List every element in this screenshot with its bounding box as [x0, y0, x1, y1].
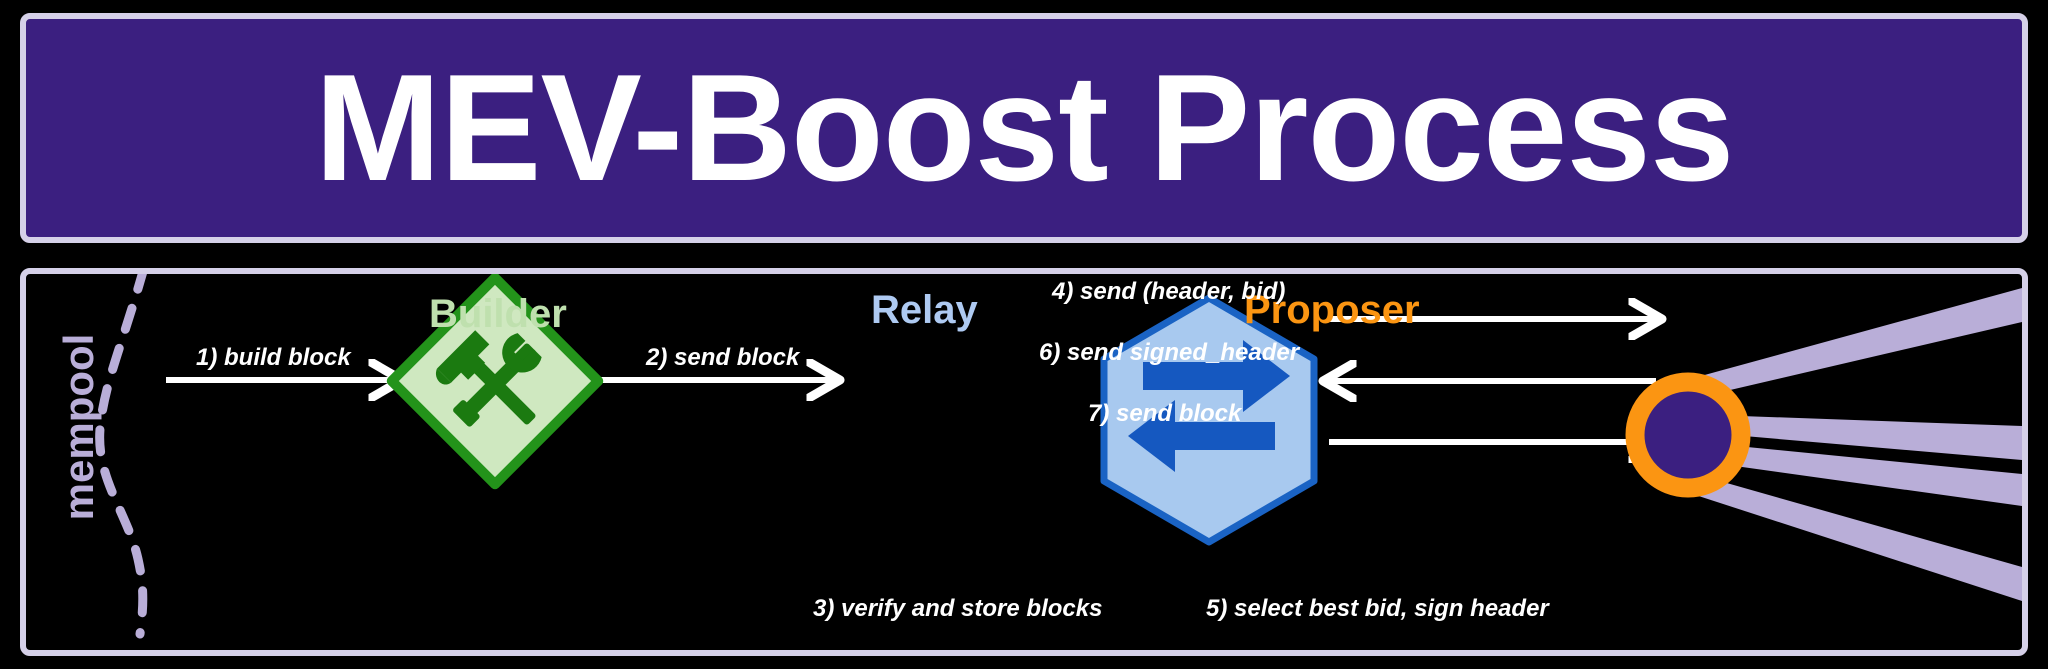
- mempool-label: mempool: [58, 327, 100, 527]
- caption-proposer: 5) select best bid, sign header: [1206, 597, 1549, 621]
- page-title: MEV-Boost Process: [315, 52, 1734, 204]
- proposer-node[interactable]: [1635, 382, 1741, 488]
- diagram-page: MEV-Boost Process: [0, 0, 2048, 669]
- builder-label: Builder: [429, 294, 567, 334]
- edge-label-4: 4) send (header, bid): [1052, 280, 1285, 304]
- mempool-curve: [100, 274, 144, 634]
- diagram-panel: mempool Builder Relay Proposer 1) build …: [20, 268, 2028, 656]
- validator-node-icon: [1635, 382, 1741, 488]
- title-banner: MEV-Boost Process: [20, 13, 2028, 243]
- edge-label-1: 1) build block: [196, 346, 351, 370]
- edge-label-2: 2) send block: [646, 346, 799, 370]
- relay-label: Relay: [871, 290, 978, 330]
- edge-label-7: 7) send block: [1088, 402, 1241, 426]
- edge-label-6: 6) send signed_header: [1039, 341, 1299, 365]
- caption-relay: 3) verify and store blocks: [813, 597, 1102, 621]
- diagram-canvas: [26, 274, 2022, 650]
